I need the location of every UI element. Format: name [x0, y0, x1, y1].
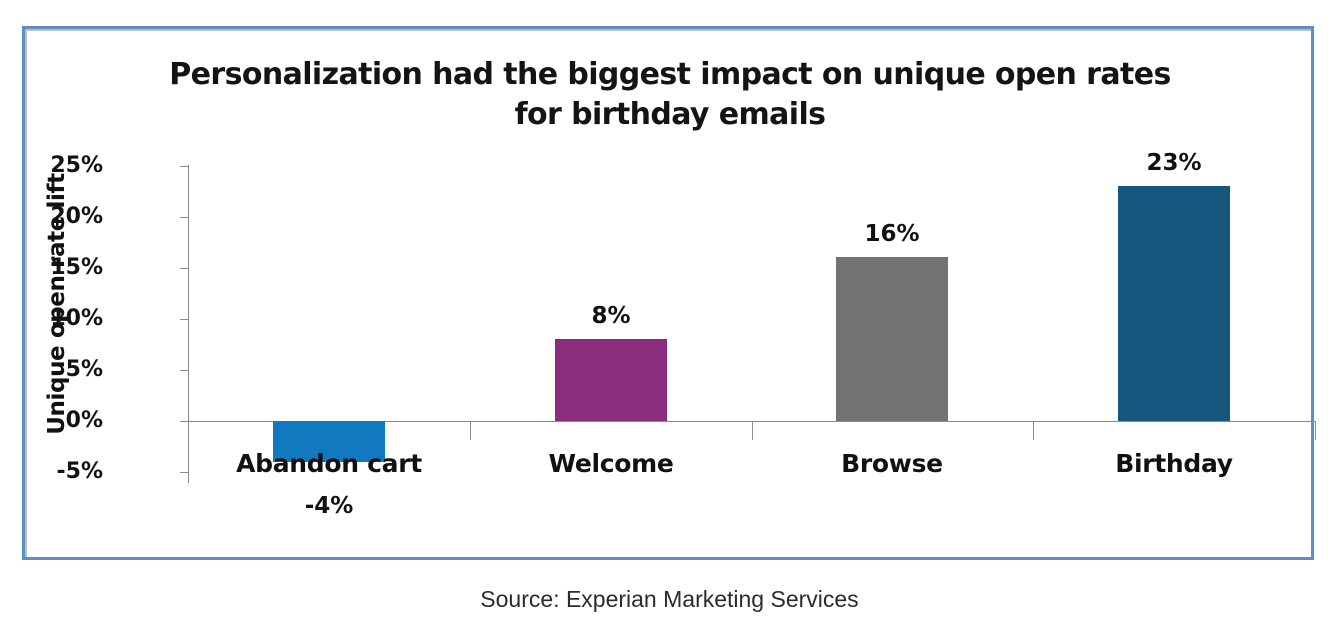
bar-welcome[interactable]	[555, 339, 667, 421]
y-axis-tick-label: 20%	[3, 204, 103, 229]
value-label-birthday: 23%	[1074, 150, 1274, 176]
y-axis-tick-label: 0%	[3, 408, 103, 433]
y-axis-tick-label: 15%	[3, 255, 103, 280]
bar-browse[interactable]	[836, 257, 948, 421]
x-axis-separator-tick	[1033, 422, 1034, 440]
x-axis-separator-tick	[470, 422, 471, 440]
y-axis-tick	[180, 319, 188, 320]
chart-title: Personalization had the biggest impact o…	[85, 55, 1255, 135]
category-label-welcome: Welcome	[461, 449, 761, 478]
y-axis-tick-label: 25%	[3, 153, 103, 178]
y-axis-tick	[180, 166, 188, 167]
source-caption: Source: Experian Marketing Services	[0, 586, 1339, 613]
chart-title-line-1: Personalization had the biggest impact o…	[85, 55, 1255, 95]
value-label-welcome: 8%	[511, 303, 711, 329]
bar-birthday[interactable]	[1118, 186, 1230, 421]
chart-frame: Personalization had the biggest impact o…	[22, 26, 1314, 560]
category-label-birthday: Birthday	[1024, 449, 1324, 478]
x-axis-separator-tick	[1315, 422, 1316, 440]
category-label-browse: Browse	[742, 449, 1042, 478]
y-axis-tick	[180, 421, 188, 422]
y-axis-tick	[180, 217, 188, 218]
plot-area: 25%20%15%10%5%0%-5% -4%8%16%23% Abandon …	[188, 159, 1293, 489]
chart-title-line-2: for birthday emails	[85, 95, 1255, 135]
y-axis-tick-label: -5%	[3, 459, 103, 484]
y-axis-tick-label: 10%	[3, 306, 103, 331]
y-axis-tick	[180, 268, 188, 269]
category-label-abandon-cart: Abandon cart	[179, 449, 479, 478]
y-axis-tick	[180, 370, 188, 371]
y-axis-tick-label: 5%	[3, 357, 103, 382]
value-label-browse: 16%	[792, 221, 992, 247]
value-label-abandon-cart: -4%	[229, 493, 429, 519]
y-axis-line	[188, 165, 189, 483]
x-axis-separator-tick	[752, 422, 753, 440]
chart-page: Personalization had the biggest impact o…	[0, 0, 1339, 635]
